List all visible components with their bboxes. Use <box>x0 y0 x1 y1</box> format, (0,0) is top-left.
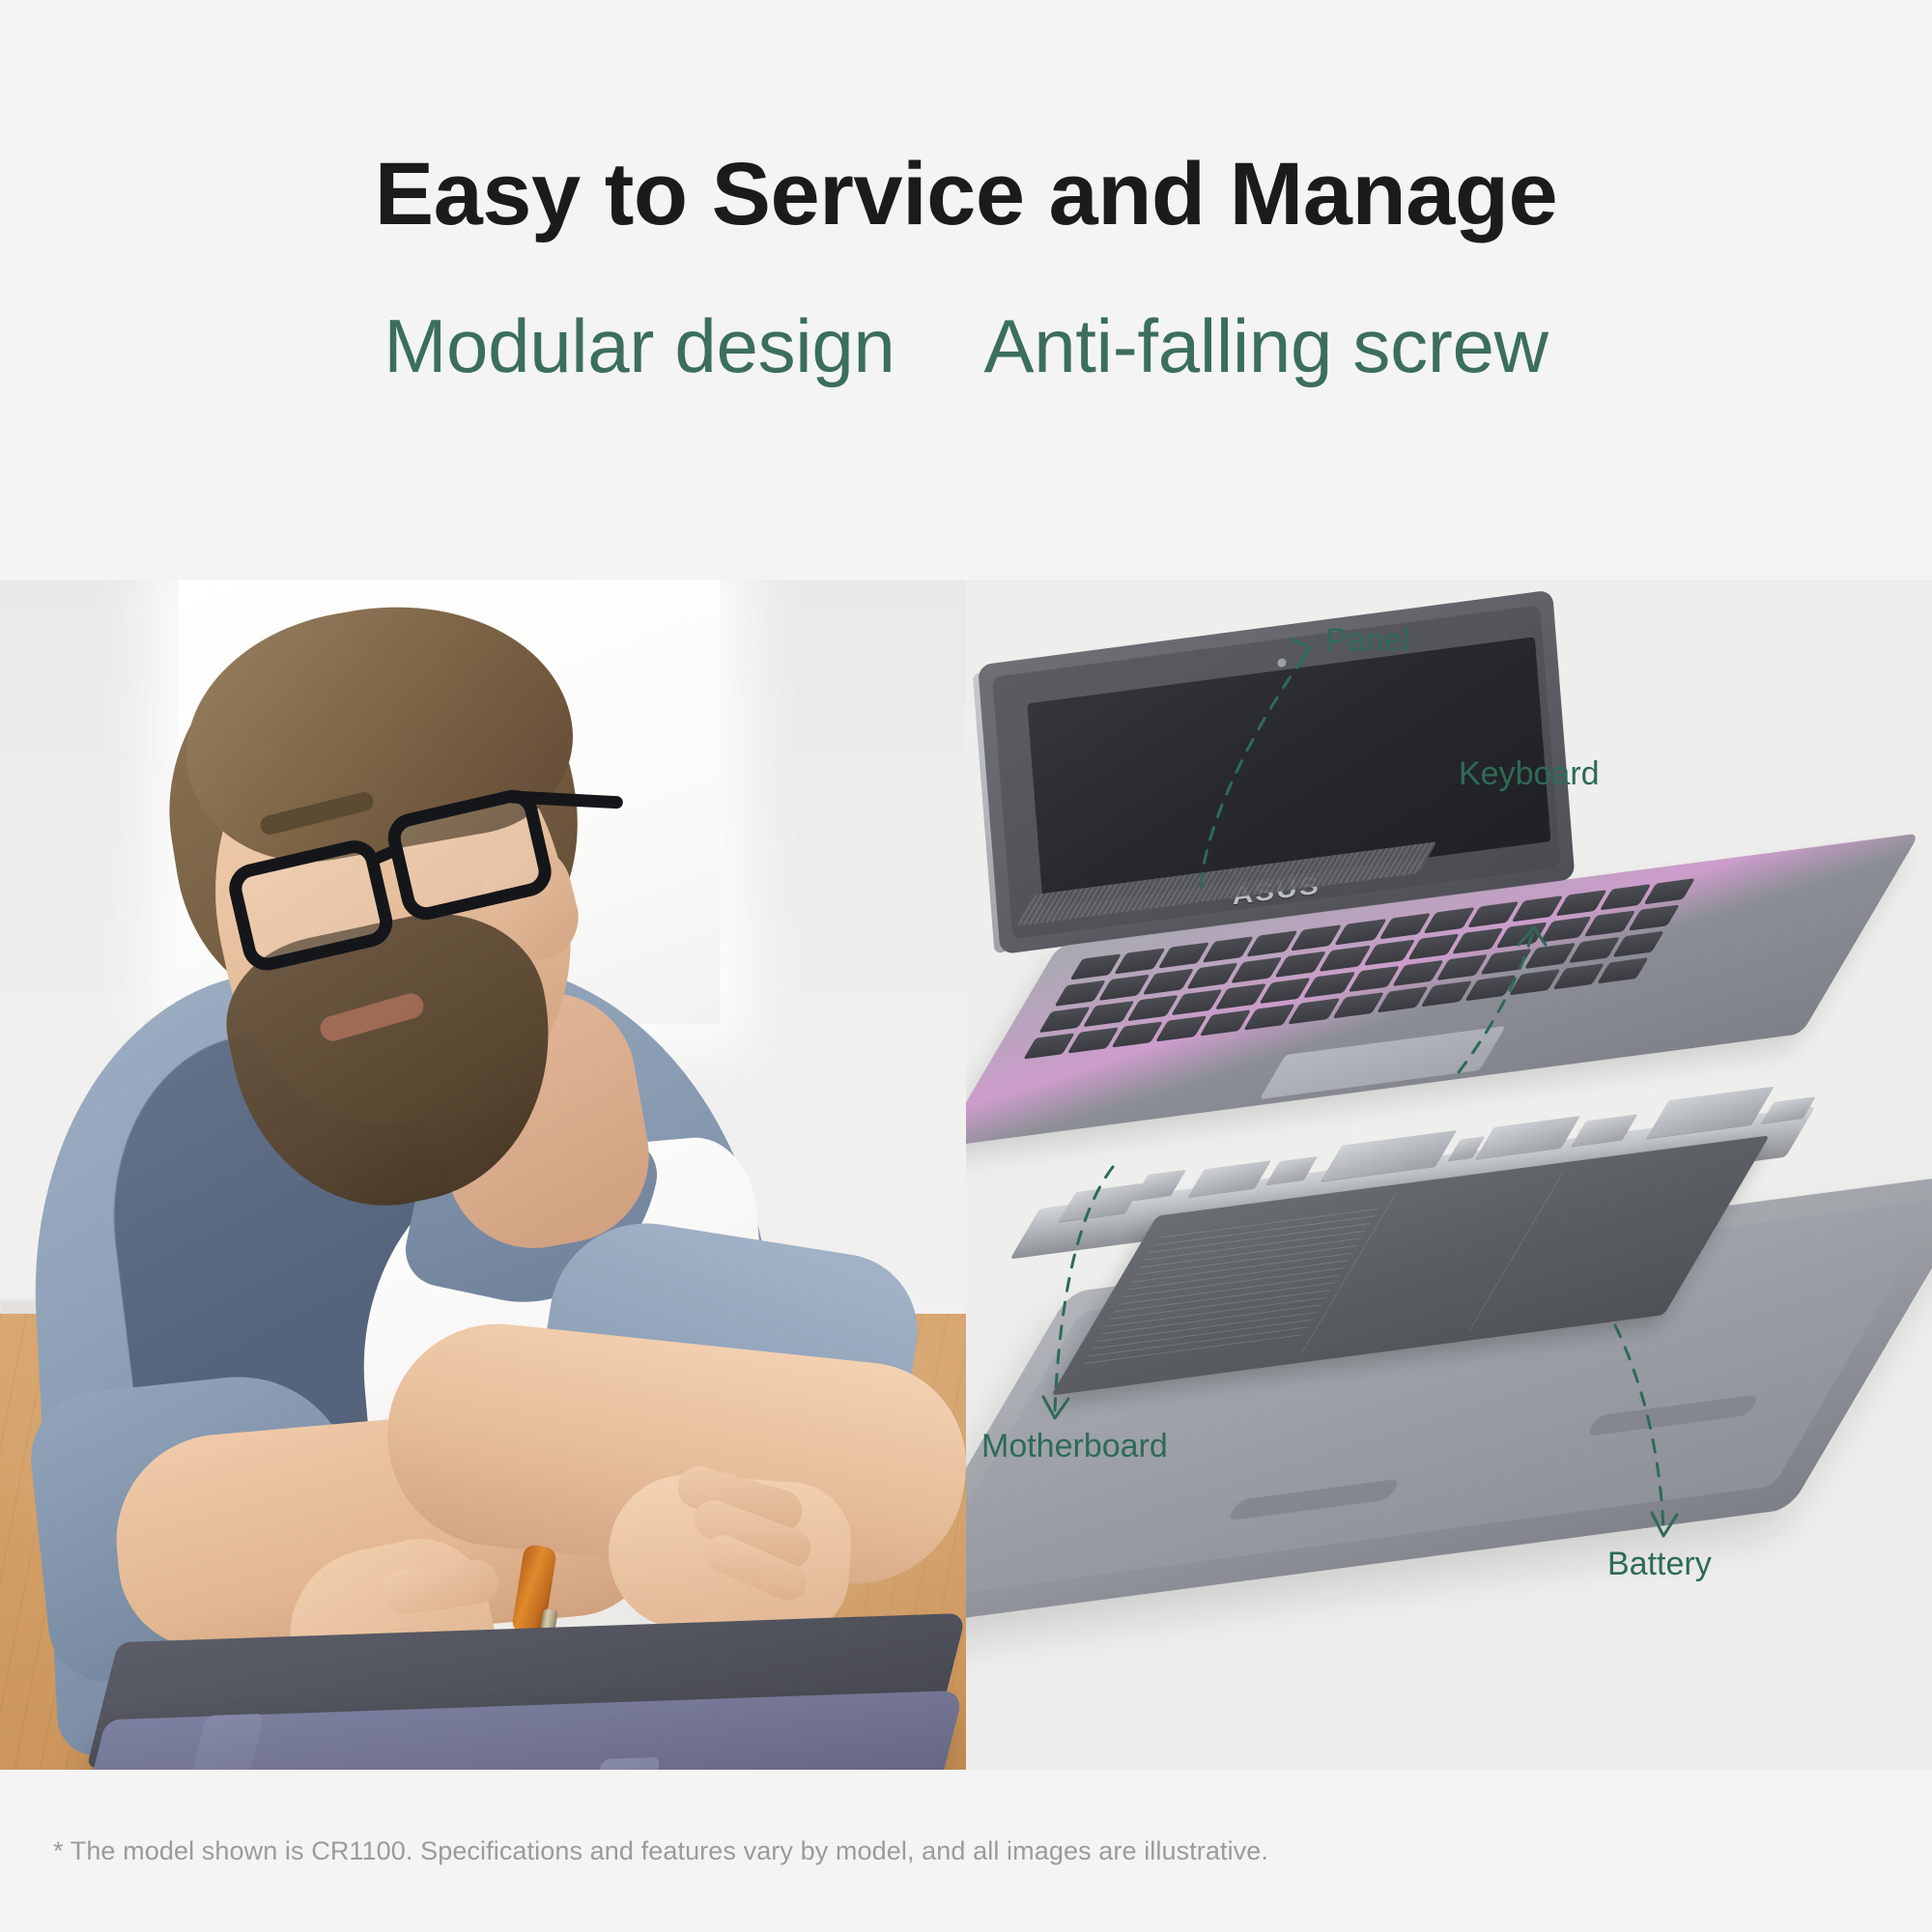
key <box>1275 952 1327 978</box>
key <box>1495 922 1548 948</box>
key <box>1023 1033 1075 1059</box>
key <box>1332 992 1384 1018</box>
feature-subtitle-anti-falling-screw: Anti-falling screw <box>983 308 1548 384</box>
key <box>1335 919 1387 945</box>
key <box>1303 972 1355 998</box>
feature-subtitle-modular-design: Modular design <box>384 308 895 384</box>
key <box>1600 884 1652 910</box>
feature-subtitles: Modular design Anti-falling screw <box>384 308 1548 384</box>
key <box>1127 995 1179 1021</box>
key <box>1114 948 1166 974</box>
key <box>1246 930 1298 956</box>
callout-label-motherboard: Motherboard <box>981 1428 1168 1465</box>
key <box>1215 983 1267 1009</box>
key <box>1420 980 1472 1007</box>
photo-scene <box>0 580 966 1770</box>
callout-label-panel: Panel <box>1325 622 1409 660</box>
key <box>1143 969 1195 995</box>
key <box>1363 940 1415 966</box>
key <box>1291 924 1343 951</box>
key <box>1378 913 1431 939</box>
header-section: Easy to Service and Manage Modular desig… <box>0 0 1932 580</box>
key <box>1260 978 1312 1004</box>
key <box>1244 1004 1296 1030</box>
key <box>1464 975 1517 1001</box>
key <box>1067 1027 1120 1053</box>
key <box>1643 878 1695 904</box>
battery-cell-divider-2 <box>1469 1173 1564 1331</box>
key <box>1480 949 1532 975</box>
marketing-slide: Easy to Service and Manage Modular desig… <box>0 0 1932 1932</box>
key <box>1628 904 1680 930</box>
key <box>1509 969 1561 995</box>
key <box>1200 1009 1252 1036</box>
key <box>1186 963 1238 989</box>
key <box>1467 901 1520 927</box>
key <box>1083 1001 1135 1027</box>
technician-photo <box>0 580 966 1770</box>
footer-section: * The model shown is CR1100. Specificati… <box>0 1770 1932 1932</box>
key <box>1584 910 1636 936</box>
key <box>1392 960 1444 986</box>
key <box>1407 934 1460 960</box>
key <box>1098 975 1151 1001</box>
key <box>1171 989 1223 1015</box>
key <box>1612 931 1664 957</box>
key <box>1435 954 1488 980</box>
key <box>1155 1015 1207 1041</box>
key <box>1377 986 1429 1012</box>
callout-label-keyboard: Keyboard <box>1459 755 1600 793</box>
webcam-icon <box>1277 658 1287 668</box>
key <box>1231 957 1283 983</box>
key <box>1452 928 1504 954</box>
key <box>1348 966 1400 992</box>
key <box>1597 957 1649 983</box>
key <box>1038 1007 1091 1033</box>
key <box>1568 937 1620 963</box>
key <box>1112 1021 1164 1047</box>
key <box>1070 953 1122 980</box>
key <box>1540 916 1592 942</box>
exploded-parts: ASUS <box>966 580 1932 1770</box>
exploded-view-diagram: ASUS <box>966 580 1932 1770</box>
key <box>1288 998 1340 1024</box>
key <box>1511 895 1563 922</box>
image-panes: ASUS <box>0 580 1932 1770</box>
key <box>1524 943 1577 969</box>
key <box>1158 942 1210 968</box>
key <box>1054 980 1106 1007</box>
page-title: Easy to Service and Manage <box>375 150 1557 239</box>
callout-label-battery: Battery <box>1607 1546 1712 1583</box>
key <box>1423 907 1475 933</box>
key <box>1319 946 1371 972</box>
key <box>1552 963 1605 989</box>
key <box>1203 936 1255 962</box>
key <box>1555 890 1607 916</box>
disclaimer-footnote: * The model shown is CR1100. Specificati… <box>53 1836 1268 1866</box>
